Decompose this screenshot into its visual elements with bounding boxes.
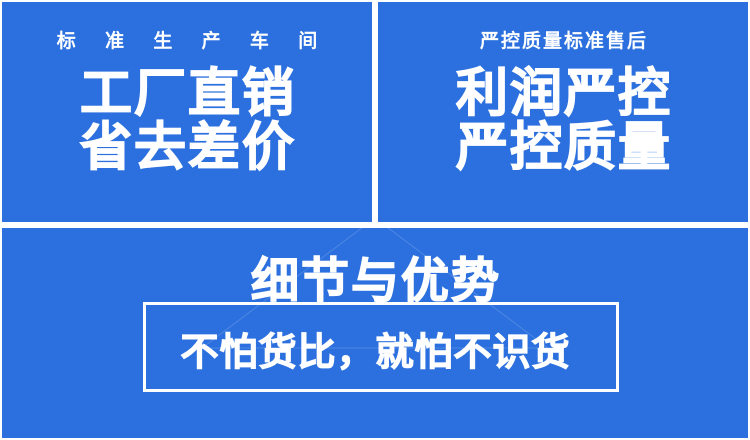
panel-eyebrow-factory-direct: 标 准 生 产 车 间 (45, 32, 329, 51)
panel-quality-control: 严控质量标准售后 利润严控 严控质量 (378, 2, 748, 222)
panel-factory-direct: 标 准 生 产 车 间 工厂直销 省去差价 (2, 2, 372, 222)
details-headline: 细节与优势 (2, 258, 748, 306)
panel-headline-line1-factory-direct: 工厂直销 (78, 67, 296, 121)
panel-eyebrow-quality-control: 严控质量标准售后 (478, 32, 648, 51)
promo-banner: 标 准 生 产 车 间 工厂直销 省去差价 严控质量标准售后 利润严控 严控质量… (0, 0, 750, 440)
top-panel-row: 标 准 生 产 车 间 工厂直销 省去差价 严控质量标准售后 利润严控 严控质量 (0, 2, 750, 222)
panel-headline-line2-factory-direct: 省去差价 (78, 121, 296, 175)
panel-details-advantages: 细节与优势 不怕货比，就怕不识货 (2, 228, 748, 438)
panel-headline-line2-quality-control: 严控质量 (454, 121, 672, 175)
details-subheadline: 不怕货比，就怕不识货 (2, 334, 748, 372)
panel-headline-line1-quality-control: 利润严控 (454, 67, 672, 121)
